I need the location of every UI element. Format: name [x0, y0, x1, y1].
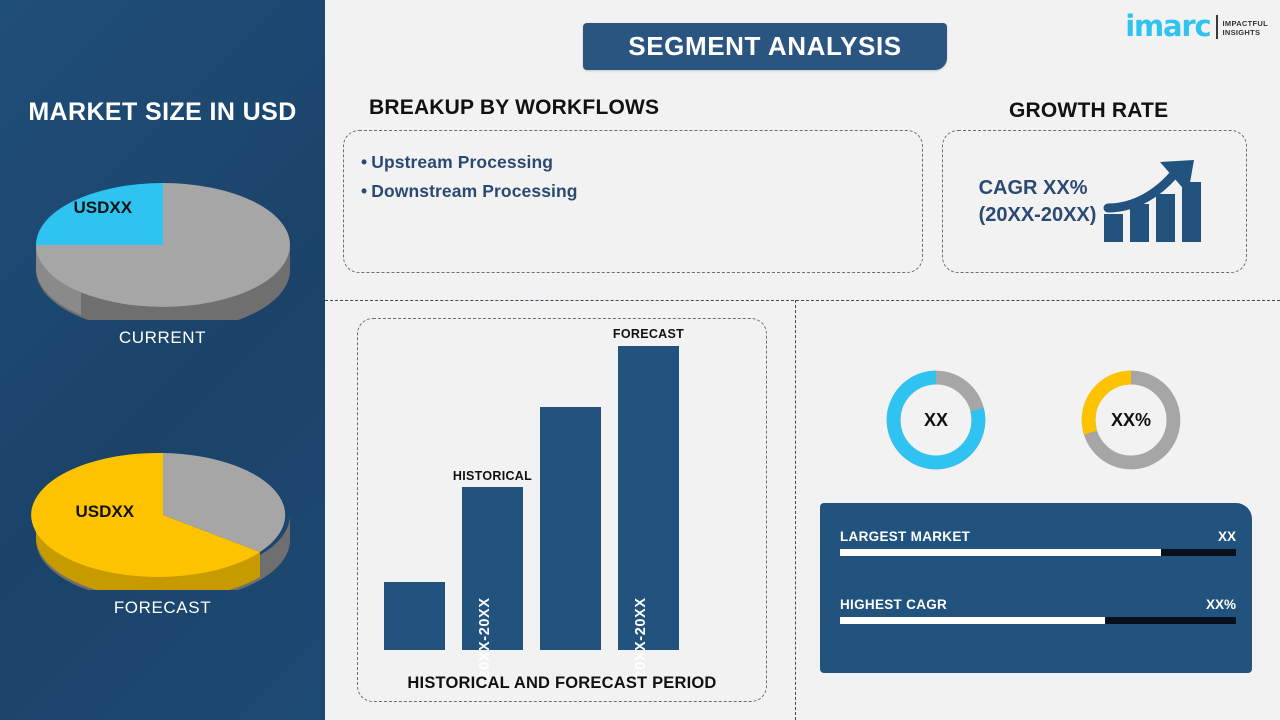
pie-3d-forecast: USDXX — [28, 440, 298, 590]
bar-chart-caption: HISTORICAL AND FORECAST PERIOD — [357, 674, 767, 693]
growth-rate-section-title: GROWTH RATE — [1009, 99, 1168, 123]
cagr-line1: CAGR XX% — [979, 175, 1097, 201]
stat-progress-track — [840, 549, 1236, 556]
historical-forecast-bar-chart: 20XX-20XX HISTORICAL 20XX-20XX FORECAST — [357, 318, 767, 702]
stat-label: HIGHEST CAGR — [840, 597, 947, 612]
page-title: SEGMENT ANALYSIS — [628, 31, 902, 62]
logo-wordmark: imarc — [1125, 12, 1210, 41]
workflow-label: Downstream Processing — [371, 181, 577, 201]
cagr-line2: (20XX-20XX) — [979, 202, 1097, 228]
bar-2: 20XX-20XX HISTORICAL — [462, 487, 523, 650]
stat-row-highest-cagr: HIGHEST CAGR XX% — [840, 597, 1236, 624]
list-item: •Upstream Processing — [361, 148, 578, 177]
market-size-sidebar: MARKET SIZE IN USD USDXX CURRENT — [0, 0, 325, 720]
bullet-icon: • — [361, 181, 367, 201]
pie-current-svg — [28, 170, 298, 320]
stat-value: XX — [1218, 529, 1236, 544]
segment-analysis-canvas: SEGMENT ANALYSIS imarc IMPACTFUL INSIGHT… — [325, 0, 1280, 720]
stat-label: LARGEST MARKET — [840, 529, 970, 544]
bullet-icon: • — [361, 152, 367, 172]
bar-2-top-label: HISTORICAL — [453, 469, 532, 483]
pie-chart-forecast: USDXX FORECAST — [0, 440, 325, 618]
donut-1-label: XX — [880, 364, 992, 476]
pie-3d-current: USDXX — [28, 170, 298, 320]
horizontal-divider — [325, 300, 1280, 301]
logo-tagline: IMPACTFUL INSIGHTS — [1223, 20, 1268, 38]
bar-2-inner-label: 20XX-20XX — [477, 597, 493, 678]
stat-progress-fill — [840, 549, 1161, 556]
list-item: •Downstream Processing — [361, 177, 578, 206]
logo-tagline-line2: INSIGHTS — [1223, 29, 1268, 38]
donut-chart-1: XX — [880, 364, 992, 476]
bar-4-inner-label: 20XX-20XX — [633, 597, 649, 678]
workflow-label: Upstream Processing — [371, 152, 553, 172]
stat-value: XX% — [1206, 597, 1236, 612]
donut-2-label: XX% — [1075, 364, 1187, 476]
bar-3 — [540, 407, 601, 650]
cagr-text: CAGR XX% (20XX-20XX) — [979, 175, 1097, 228]
logo-divider — [1216, 15, 1218, 39]
stat-header: HIGHEST CAGR XX% — [840, 597, 1236, 612]
pie-forecast-svg — [28, 440, 298, 590]
stat-row-largest-market: LARGEST MARKET XX — [840, 529, 1236, 556]
sidebar-title: MARKET SIZE IN USD — [0, 98, 325, 127]
workflows-section-title: BREAKUP BY WORKFLOWS — [369, 96, 659, 120]
stat-header: LARGEST MARKET XX — [840, 529, 1236, 544]
growth-rate-content: CAGR XX% (20XX-20XX) — [942, 130, 1247, 273]
bar-1 — [384, 582, 445, 650]
stat-progress-fill — [840, 617, 1105, 624]
growth-arrow-bar-icon — [1102, 156, 1210, 248]
page-title-banner: SEGMENT ANALYSIS — [583, 23, 947, 70]
pie-current-caption: CURRENT — [0, 328, 325, 348]
market-stats-card: LARGEST MARKET XX HIGHEST CAGR XX% — [820, 503, 1252, 673]
donut-chart-2: XX% — [1075, 364, 1187, 476]
stat-progress-track — [840, 617, 1236, 624]
vertical-divider — [795, 300, 796, 720]
bar-4-top-label: FORECAST — [613, 327, 684, 341]
imarc-logo: imarc IMPACTFUL INSIGHTS — [1125, 12, 1268, 41]
pie-forecast-caption: FORECAST — [0, 598, 325, 618]
bar-4: 20XX-20XX FORECAST — [618, 346, 679, 650]
pie-chart-current: USDXX CURRENT — [0, 170, 325, 348]
workflows-list: •Upstream Processing •Downstream Process… — [361, 148, 578, 206]
